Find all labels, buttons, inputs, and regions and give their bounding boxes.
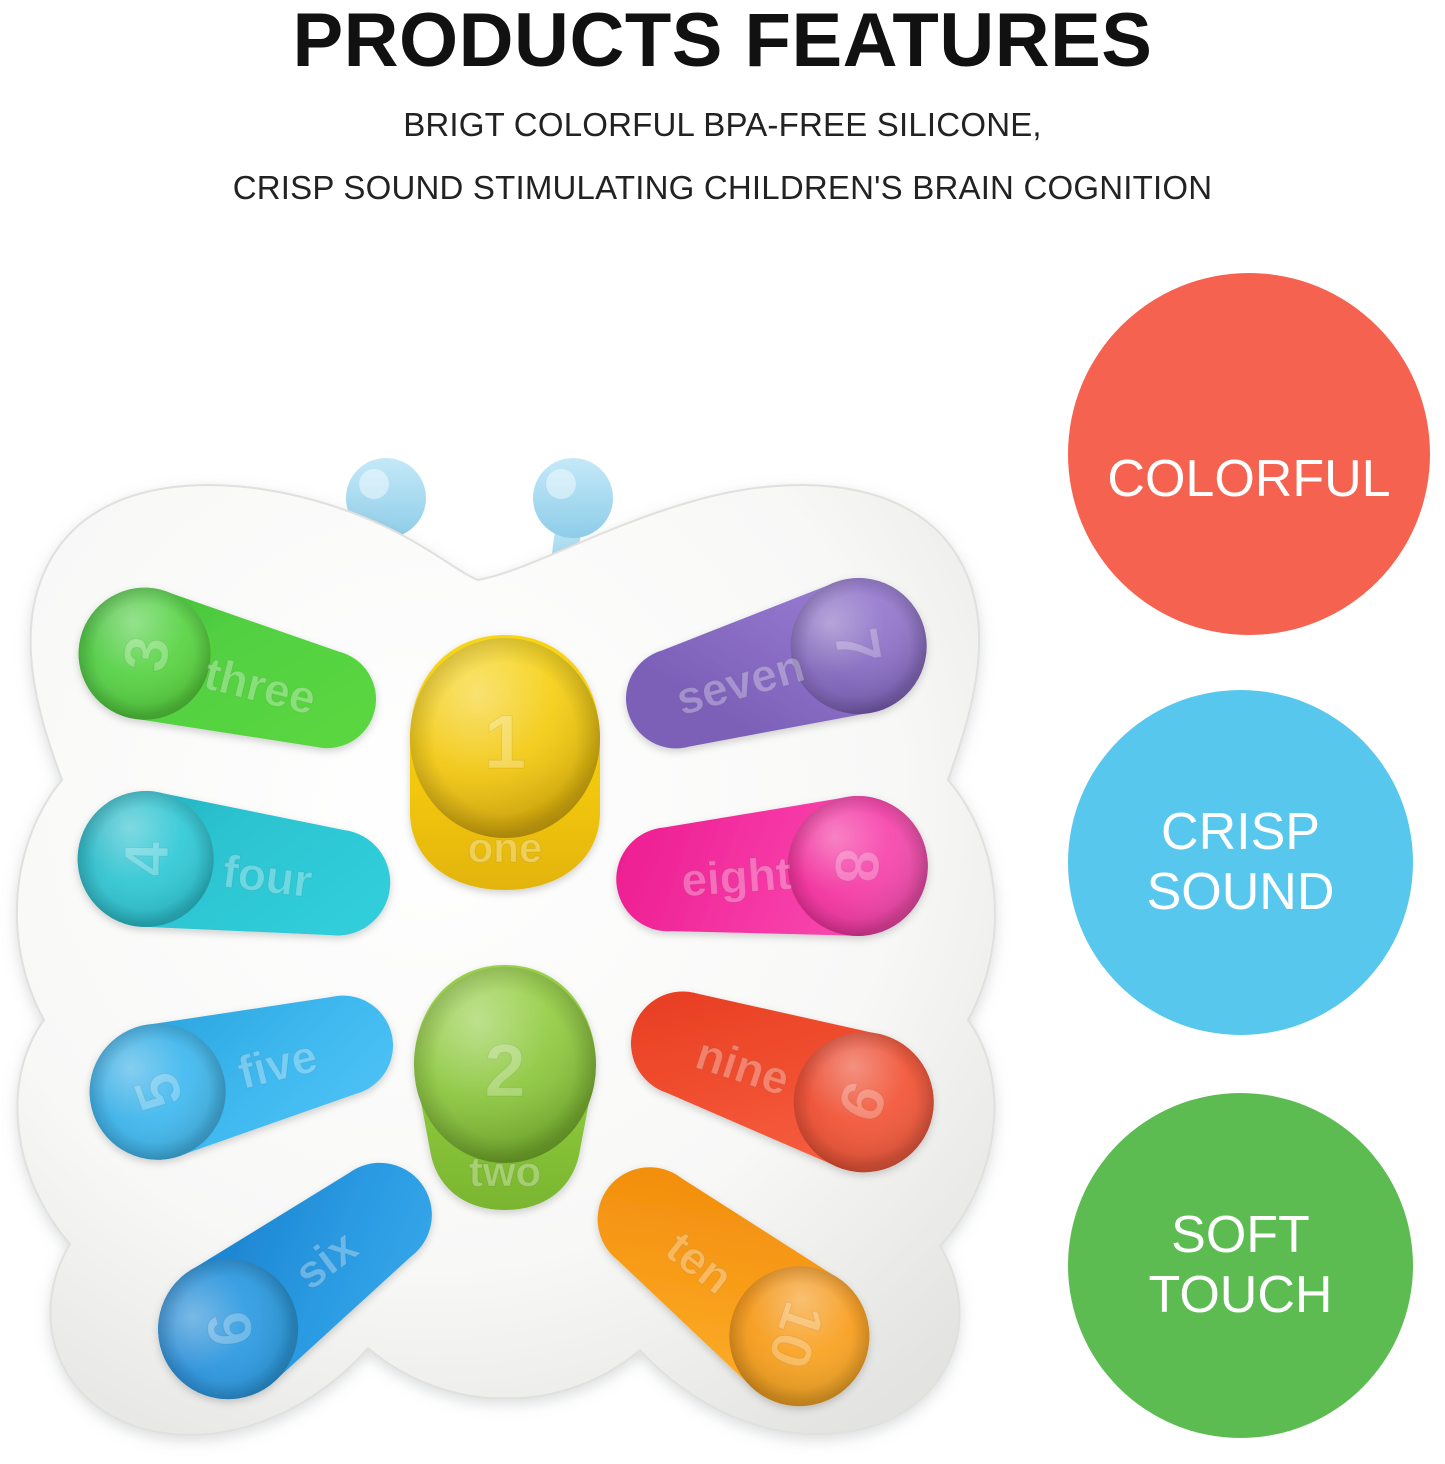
toy-button-two[interactable]: 2 two: [414, 965, 596, 1210]
feature-badge-soft-touch-label: SOFT TOUCH: [1149, 1206, 1333, 1325]
product-image-butterfly-fidget-toy: 3 three 4 four 5 five: [0, 420, 1010, 1464]
svg-text:four: four: [220, 845, 315, 908]
feature-badge-crisp-sound-label: CRISP SOUND: [1147, 803, 1335, 922]
svg-text:8: 8: [821, 848, 891, 885]
feature-badge-soft-touch: SOFT TOUCH: [1068, 1093, 1413, 1438]
svg-text:2: 2: [484, 1029, 525, 1112]
feature-badge-colorful: COLORFUL: [1068, 273, 1430, 635]
page-title: PRODUCTS FEATURES: [0, 0, 1445, 80]
svg-text:two: two: [469, 1148, 541, 1195]
feature-badge-colorful-label: COLORFUL: [1107, 450, 1390, 509]
feature-badge-crisp-sound: CRISP SOUND: [1068, 690, 1413, 1035]
toy-button-one[interactable]: 1 one: [410, 635, 600, 890]
header: PRODUCTS FEATURES BRIGT COLORFUL BPA-FRE…: [0, 0, 1445, 215]
subtitle-line-2: CRISP SOUND STIMULATING CHILDREN'S BRAIN…: [0, 171, 1445, 204]
svg-text:4: 4: [112, 841, 182, 877]
svg-text:1: 1: [484, 700, 526, 785]
svg-text:eight: eight: [680, 847, 793, 907]
subtitle-line-1: BRIGT COLORFUL BPA-FREE SILICONE,: [0, 108, 1445, 141]
svg-text:one: one: [468, 824, 543, 871]
